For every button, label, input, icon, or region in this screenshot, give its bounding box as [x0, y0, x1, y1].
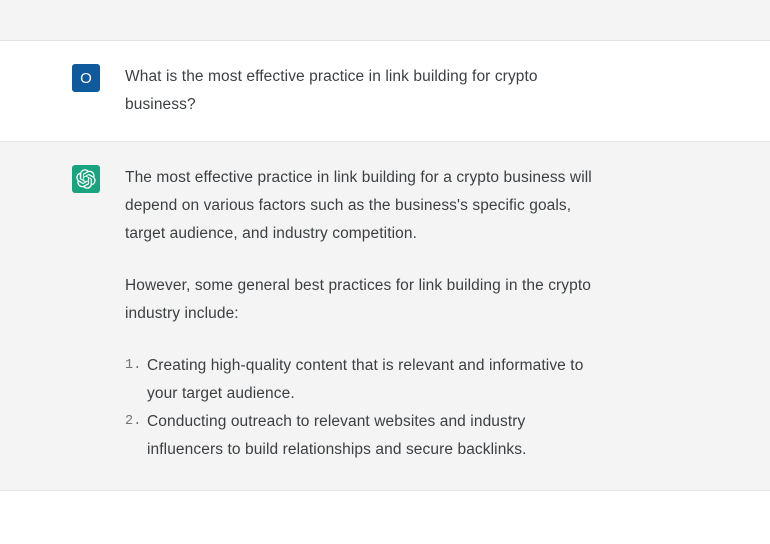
list-item-marker: 2.	[125, 408, 147, 436]
list-item-marker: 1.	[125, 352, 147, 380]
list-item-text: Conducting outreach to relevant websites…	[147, 408, 595, 464]
message-row-user: O What is the most effective practice in…	[0, 41, 770, 142]
assistant-message-body: The most effective practice in link buil…	[125, 164, 762, 464]
user-message-text: What is the most effective practice in l…	[125, 63, 595, 119]
conversation-bottom-space	[0, 491, 770, 544]
user-avatar: O	[72, 64, 100, 92]
assistant-paragraph-2: However, some general best practices for…	[125, 272, 595, 328]
message-row-assistant: The most effective practice in link buil…	[0, 142, 770, 491]
assistant-paragraph-1: The most effective practice in link buil…	[125, 164, 595, 248]
assistant-ordered-list: 1. Creating high-quality content that is…	[125, 352, 595, 464]
list-item-text: Creating high-quality content that is re…	[147, 352, 595, 408]
openai-logo-icon	[76, 169, 96, 189]
list-item: 2. Conducting outreach to relevant websi…	[125, 408, 595, 464]
list-item: 1. Creating high-quality content that is…	[125, 352, 595, 408]
previous-message-partial-row	[0, 0, 770, 41]
assistant-avatar	[72, 165, 100, 193]
message-inner-assistant: The most effective practice in link buil…	[0, 142, 762, 490]
chat-conversation: O What is the most effective practice in…	[0, 0, 770, 544]
message-inner-user: O What is the most effective practice in…	[0, 41, 762, 141]
user-message-body: What is the most effective practice in l…	[125, 63, 762, 119]
user-avatar-letter: O	[80, 71, 92, 86]
